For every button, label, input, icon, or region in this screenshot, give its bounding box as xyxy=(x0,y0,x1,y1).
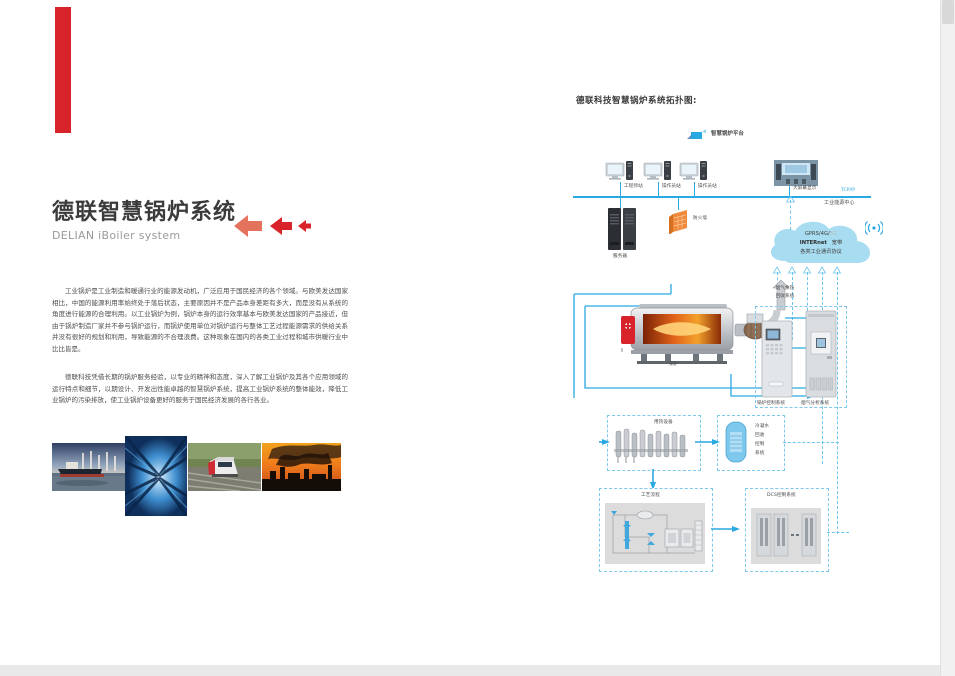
condensate-label-3: 控制 xyxy=(755,442,764,448)
thumbnail-factory xyxy=(262,443,341,491)
cloud-broadband: 宽带 xyxy=(832,240,842,246)
platform-icon xyxy=(685,129,707,141)
cloud-text: GPRS/4G/5G INTERnet 宽带 各类工业通讯协议 xyxy=(771,230,871,257)
cloud-uplink-dashed xyxy=(790,200,791,230)
heat-exchanger-icon xyxy=(612,425,694,465)
topology-diagram: 智慧锅炉平台 工程师站 操作员站 xyxy=(565,120,905,570)
firewall-drop-line xyxy=(678,198,679,210)
field-uplink-arrows xyxy=(771,266,845,274)
condensate-label-4: 系统 xyxy=(755,451,764,457)
dcs-label: DCS控制系统 xyxy=(767,493,796,499)
bus-tick-2 xyxy=(658,182,659,196)
cloud-line-2: INTERnet 宽带 xyxy=(771,239,871,248)
cloud-line-3: 各类工业通讯协议 xyxy=(771,248,871,257)
condensate-uplink-dashed xyxy=(783,442,839,443)
body-paragraph-1: 工业锅炉是工业制造和暖通行业的能源发动机，广泛应用于国民经济的各个领域。与欧美发… xyxy=(52,286,348,356)
dcs-cabinets-icon xyxy=(751,508,821,564)
cloud-internet: INTERnet xyxy=(800,240,827,246)
condensate-label-1: 冷凝水 xyxy=(755,424,769,430)
server-label: 服务器 xyxy=(613,254,627,260)
arrow-large-icon xyxy=(234,215,262,237)
bus-tick-3 xyxy=(694,182,695,196)
dcs-uplink-dashed xyxy=(827,532,849,533)
antenna-signal-icon xyxy=(865,220,883,236)
bus-tick-1 xyxy=(620,182,621,196)
condensate-label-2: 回收 xyxy=(755,433,764,439)
left-title-block: 德联智慧锅炉系统 DELIAN iBoiler system xyxy=(52,200,252,242)
arrow-decoration xyxy=(232,212,312,240)
arrow-small-icon xyxy=(298,220,311,232)
topology-title: 德联科技智慧锅炉系统拓扑图: xyxy=(576,94,697,106)
flue-recovery-label-line1: 烟气余热 xyxy=(765,286,805,292)
workstation-label-2: 操作员站 xyxy=(662,184,681,190)
process-flow-schematic xyxy=(605,503,705,564)
inlet-to-heat-arrow xyxy=(599,438,611,446)
arrow-medium-icon xyxy=(270,217,292,235)
thumbnail-glass-building xyxy=(125,436,187,516)
firewall-label: 防火墙 xyxy=(693,216,707,222)
control-systems-group-boundary xyxy=(755,306,847,408)
process-flow-label: 工艺流程 xyxy=(641,493,660,499)
boiler-label: 锅炉 xyxy=(669,362,678,368)
workstation-icon-1 xyxy=(605,160,639,182)
cloud-gprs: GPRS/4G/ xyxy=(805,231,830,237)
thumbnail-train xyxy=(188,443,261,491)
page-scrollbar[interactable] xyxy=(940,0,955,676)
workstation-label-3: 操作员站 xyxy=(698,184,717,190)
workstation-label-1: 工程师站 xyxy=(624,184,643,190)
flue-recovery-label-line2: 回收系统 xyxy=(765,294,805,300)
boiler-icon xyxy=(621,300,741,370)
big-screen-icon xyxy=(774,160,818,186)
cloud-line-1: GPRS/4G/5G xyxy=(771,230,871,239)
thumbnail-port-ship xyxy=(52,443,127,491)
big-screen-label: 大屏幕显示 xyxy=(793,186,816,192)
condensate-tank-icon xyxy=(723,420,749,464)
scrollbar-thumb[interactable] xyxy=(942,0,954,24)
firewall-icon xyxy=(669,210,691,234)
bus-protocol-label: TCP/IP xyxy=(841,188,855,194)
heat-to-condensate-arrow xyxy=(695,438,721,446)
server-icon xyxy=(607,208,639,252)
workstation-icon-3 xyxy=(679,160,713,182)
body-paragraph-2: 德联科技凭借长期的锅炉服务经验，以专业的精神和态度，深入了解工业锅炉及其各个应用… xyxy=(52,372,348,407)
tcp-ip-bus xyxy=(573,196,871,198)
energy-center-label: 工业能源中心 xyxy=(824,200,855,206)
platform-label: 智慧锅炉平台 xyxy=(711,131,744,137)
cloud-uplink-arrow xyxy=(786,196,795,203)
cloud-5g: 5G xyxy=(830,231,837,237)
workstation-icon-2 xyxy=(643,160,677,182)
red-accent-bar xyxy=(55,7,71,133)
page-subtitle: DELIAN iBoiler system xyxy=(52,229,252,242)
bus-tick-screen xyxy=(789,186,790,196)
server-drop-line xyxy=(620,198,621,208)
document-page: 德联智慧锅炉系统 DELIAN iBoiler system 工业锅炉是工业制造… xyxy=(0,0,941,665)
process-to-dcs-arrow xyxy=(711,525,741,533)
page-title: 德联智慧锅炉系统 xyxy=(52,200,252,226)
